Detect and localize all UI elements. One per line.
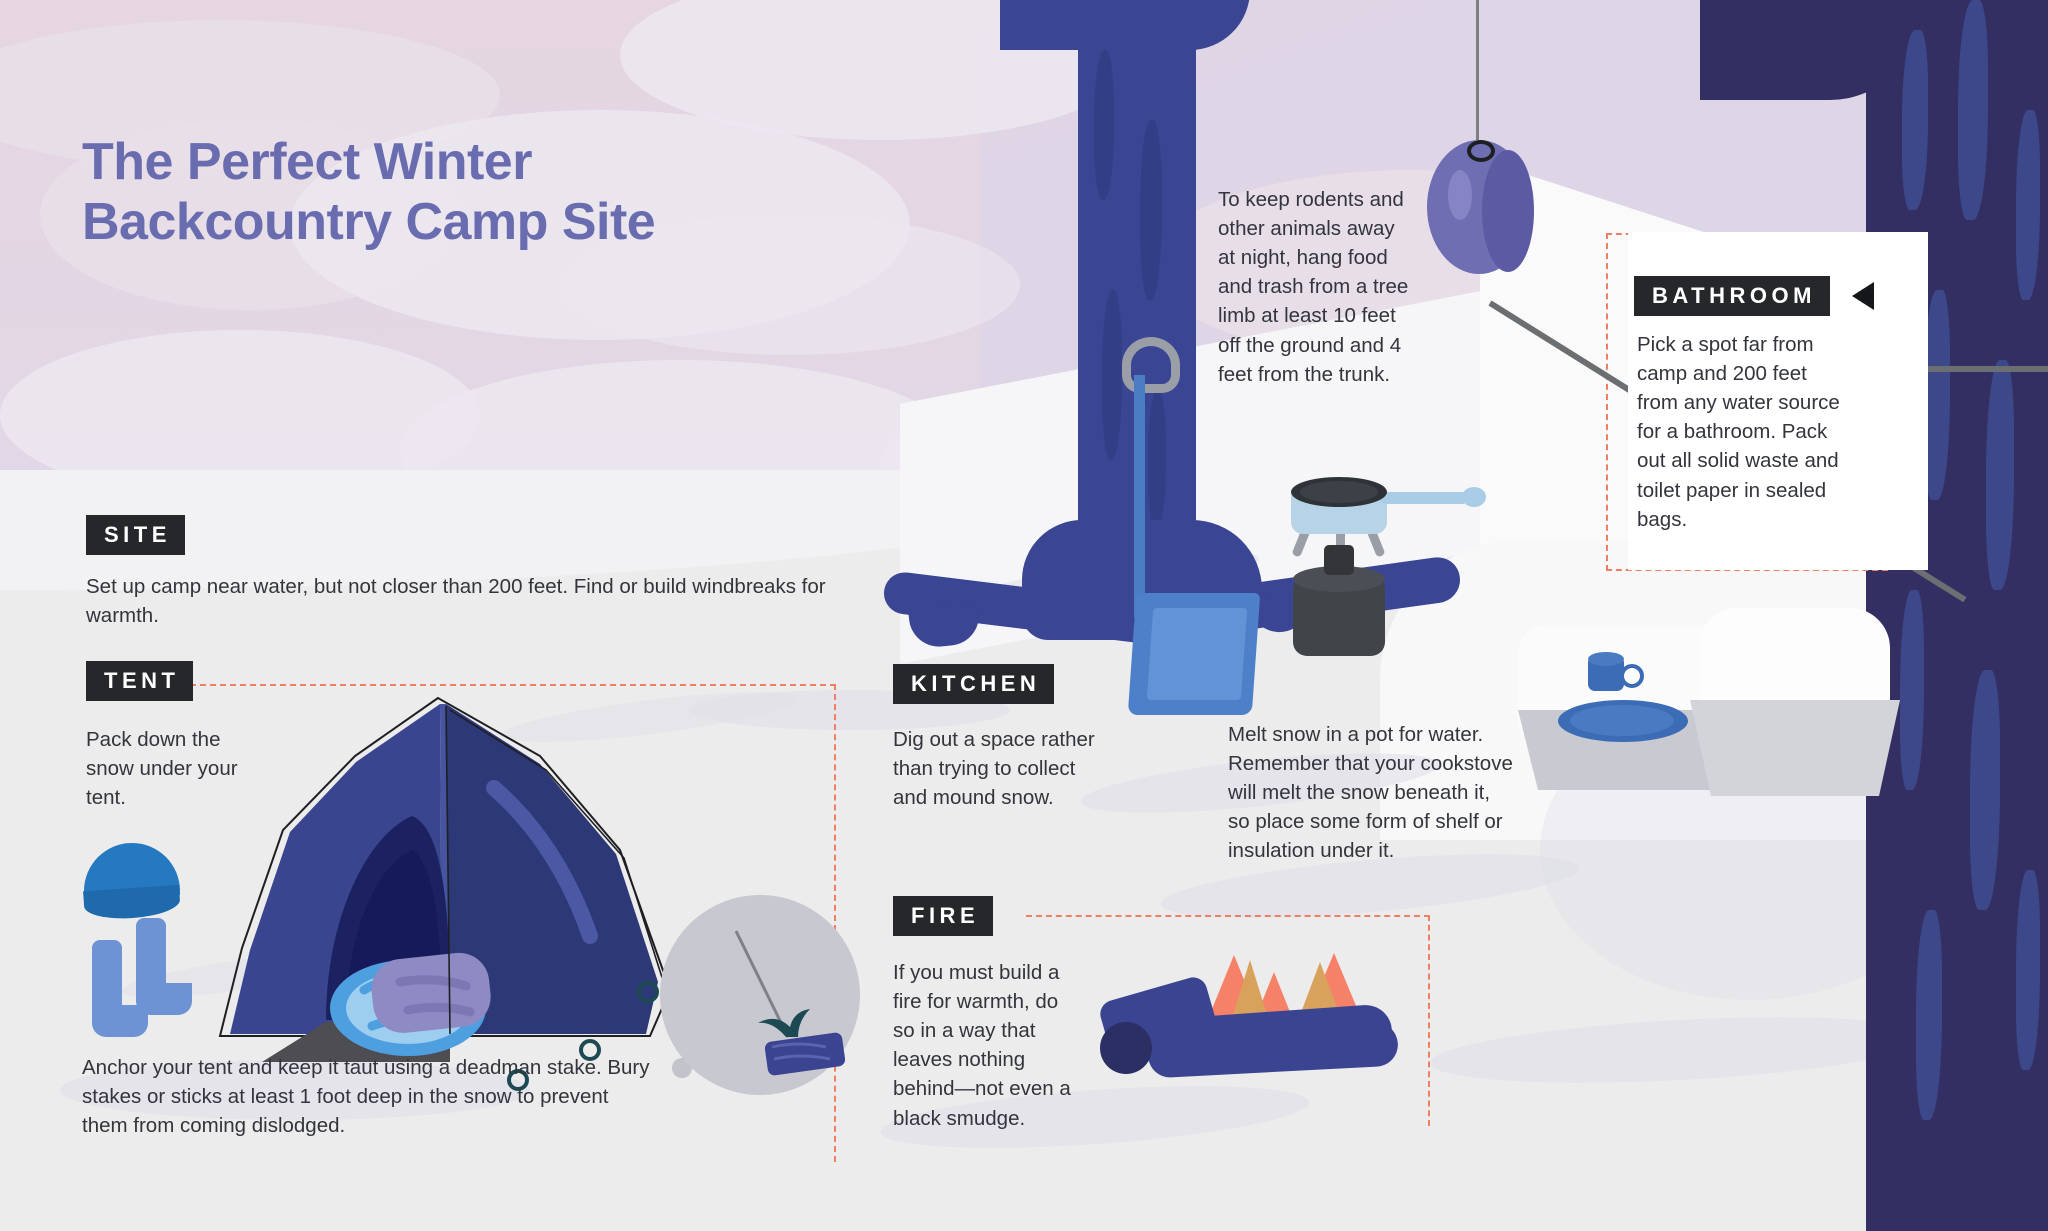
page-title-line2: Backcountry Camp Site xyxy=(82,192,902,252)
kitchen-body: Dig out a space rather than trying to co… xyxy=(893,725,1113,812)
site-body: Set up camp near water, but not closer t… xyxy=(86,572,826,630)
food-hang-note: To keep rodents and other animals away a… xyxy=(1218,185,1414,389)
hanging-food-bag-shadow xyxy=(1482,150,1534,272)
tent-body-bottom: Anchor your tent and keep it taut using … xyxy=(82,1053,652,1140)
fire-body: If you must build a fire for warmth, do … xyxy=(893,958,1083,1133)
page-title: The Perfect Winter Backcountry Camp Site xyxy=(82,132,902,253)
deadman-stake-inset-icon xyxy=(660,895,860,1095)
tent-body-top: Pack down the snow under your tent. xyxy=(86,725,256,812)
dashed-guide-tent xyxy=(190,684,836,686)
dashed-guide-fire-vertical xyxy=(1428,915,1430,1126)
arrow-left-icon xyxy=(1852,282,1874,310)
tree-limb-center xyxy=(1000,0,1250,50)
tree-trunk-right xyxy=(1866,0,2048,1231)
kitchen-label: KITCHEN xyxy=(893,664,1054,704)
mug-rim xyxy=(1588,652,1624,666)
bathroom-label: BATHROOM xyxy=(1634,276,1830,316)
page-title-line1: The Perfect Winter xyxy=(82,132,902,192)
stove-pot-handle xyxy=(1380,492,1468,504)
stove-pot-inner xyxy=(1300,481,1378,503)
bathroom-body: Pick a spot far from camp and 200 feet f… xyxy=(1637,330,1851,534)
dashed-guide-fire xyxy=(1026,915,1430,917)
log-end xyxy=(1100,1022,1152,1074)
mug-handle xyxy=(1620,664,1644,688)
hang-cord xyxy=(1476,0,1479,140)
deadman-stake-svg xyxy=(660,895,860,1095)
shovel-blade-inner xyxy=(1147,608,1247,700)
melt-snow-note: Melt snow in a pot for water. Remember t… xyxy=(1228,720,1516,866)
stove-neck xyxy=(1324,545,1354,575)
snow-table-side-back xyxy=(1690,700,1900,796)
hanging-food-bag-highlight xyxy=(1448,170,1472,220)
fire-label: FIRE xyxy=(893,896,993,936)
plate-inner xyxy=(1570,705,1674,736)
shovel-handle xyxy=(1134,375,1145,617)
shovel-grip xyxy=(1122,337,1180,393)
hanging-food-bag-ring xyxy=(1467,140,1495,162)
tent-label: TENT xyxy=(86,661,193,701)
site-label: SITE xyxy=(86,515,185,555)
stove-pot-handle-end xyxy=(1462,487,1486,507)
infographic-canvas: BATHROOM Pick a spot far from camp and 2… xyxy=(0,0,2048,1231)
